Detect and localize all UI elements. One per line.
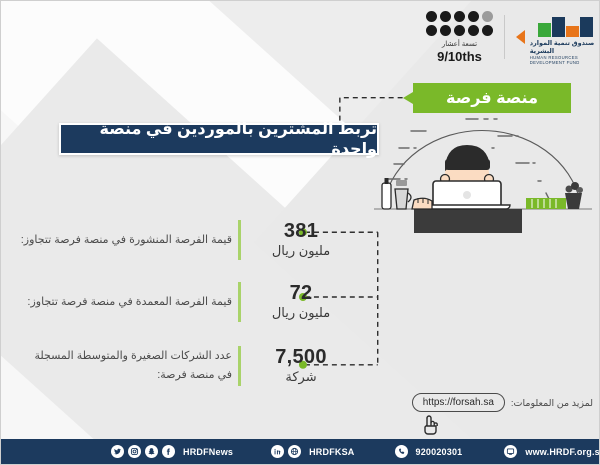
hrdf-name-english: HUMAN RESOURCES DEVELOPMENT FUND (530, 55, 600, 65)
hrdf-name-arabic: صندوق تنمية الموارد البشرية (530, 39, 600, 55)
stat-value-block: 381 مليون ريال (253, 221, 349, 259)
stat-row: 72 مليون ريال قيمة الفرصة المعمدة في منص… (1, 271, 371, 333)
dot-filled (454, 11, 465, 22)
stat-description: قيمة الفرصة المنشورة في منصة فرصة تتجاوز… (1, 231, 232, 250)
stat-row: 381 مليون ريال قيمة الفرصة المنشورة في م… (1, 209, 371, 271)
stat-value-block: 72 مليون ريال (253, 283, 349, 321)
dot-filled (440, 25, 451, 36)
stat-value-block: 7,500 شركة (253, 347, 349, 385)
more-info-label: لمزيد من المعلومات: (511, 398, 593, 409)
twitter-icon[interactable] (111, 445, 124, 458)
header-divider (504, 15, 505, 59)
stat-unit: مليون ريال (253, 305, 349, 321)
forsah-url-link[interactable]: https://forsah.sa (412, 393, 505, 412)
dot-filled (440, 11, 451, 22)
more-info-cta: لمزيد من المعلومات: https://forsah.sa (407, 393, 593, 435)
dot-caption-english: 9/10ths (437, 50, 482, 64)
person-at-laptop-illustration (366, 101, 600, 246)
platform-name-label: منصة فرصة (446, 88, 538, 108)
dot-filled (482, 25, 493, 36)
nine-tenths-dot-graphic: تسعة أعشار 9/10ths (426, 11, 493, 64)
footer-group-social: HRDFNews (111, 445, 233, 458)
footer-handle: HRDFKSA (309, 447, 354, 457)
footer-group-website: www.HRDF.org.sa (504, 445, 600, 458)
header-bar: تسعة أعشار 9/10ths صندوق تنمية الموارد ا… (1, 1, 600, 73)
dot-filled (426, 11, 437, 22)
footer-website: www.HRDF.org.sa (525, 447, 600, 457)
monitor-icon[interactable] (504, 445, 517, 458)
instagram-icon[interactable] (128, 445, 141, 458)
footer-group-phone: 920020301 (395, 445, 463, 458)
infographic-page: تسعة أعشار 9/10ths صندوق تنمية الموارد ا… (0, 0, 600, 465)
dot-filled (468, 11, 479, 22)
footer-phone: 920020301 (416, 447, 463, 457)
stat-divider (238, 346, 241, 386)
snapchat-icon[interactable] (145, 445, 158, 458)
pointing-hand-icon (421, 415, 439, 435)
dot-grid (426, 11, 493, 36)
dot-filled (454, 25, 465, 36)
stat-description: قيمة الفرصة المعمدة في منصة فرصة تتجاوز: (1, 293, 232, 312)
stat-number: 7,500 (253, 347, 349, 368)
tagline-label: تربط المشترين بالموردين في منصة واحدة (61, 119, 377, 159)
dot-filled (468, 25, 479, 36)
statistics-list: 381 مليون ريال قيمة الفرصة المنشورة في م… (1, 209, 371, 399)
stat-divider (238, 282, 241, 322)
stat-number: 72 (253, 283, 349, 304)
dot-caption-arabic: تسعة أعشار (442, 41, 477, 48)
dot-muted (482, 11, 493, 22)
left-arrow-icon (516, 30, 525, 44)
stat-unit: مليون ريال (253, 243, 349, 259)
linkedin-icon[interactable] (271, 445, 284, 458)
footer-group-linkedin: HRDFKSA (271, 445, 354, 458)
platform-name-banner: منصة فرصة (413, 83, 571, 113)
dot-filled (426, 25, 437, 36)
hrdf-wordmark (538, 9, 593, 37)
tagline-banner: تربط المشترين بالموردين في منصة واحدة (59, 123, 379, 155)
stat-number: 381 (253, 221, 349, 242)
footer-handle: HRDFNews (183, 447, 233, 457)
hrdf-logo: صندوق تنمية الموارد البشرية HUMAN RESOUR… (530, 9, 600, 65)
phone-icon[interactable] (395, 445, 408, 458)
stat-divider (238, 220, 241, 260)
facebook-icon[interactable] (162, 445, 175, 458)
stat-description: عدد الشركات الصغيرة والمتوسطة المسجلة في… (1, 347, 232, 384)
footer-bar: HRDFNews HRDFKSA 920020301 www.HRDF.org.… (1, 439, 600, 464)
stat-unit: شركة (253, 369, 349, 385)
globe-icon[interactable] (288, 445, 301, 458)
stat-row: 7,500 شركة عدد الشركات الصغيرة والمتوسطة… (1, 333, 371, 399)
